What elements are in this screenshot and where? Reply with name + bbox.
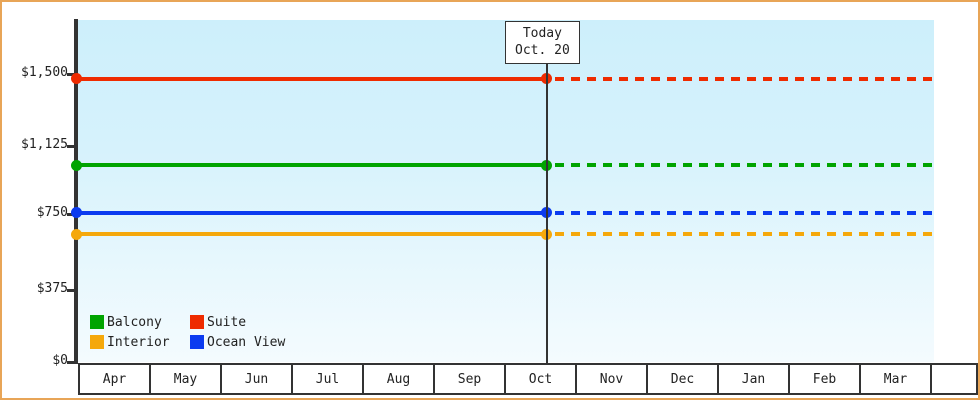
legend-item-balcony[interactable]: Balcony (90, 315, 190, 330)
y-tick-label-0: $0 (10, 353, 68, 368)
x-axis-month-jan[interactable]: Jan (717, 365, 788, 393)
x-axis-month-nov[interactable]: Nov (575, 365, 646, 393)
today-annotation-box: Today Oct. 20 (505, 21, 580, 64)
series-marker-ocean-view-start (71, 207, 82, 218)
x-axis-month-aug[interactable]: Aug (362, 365, 433, 393)
y-tick-label-1500: $1,500 (10, 65, 68, 80)
x-axis-month-jul[interactable]: Jul (291, 365, 362, 393)
legend-label-ocean-view: Ocean View (207, 335, 285, 350)
plot-area (78, 20, 934, 362)
legend-swatch-ocean-view (190, 335, 204, 349)
legend-item-interior[interactable]: Interior (90, 335, 190, 350)
x-axis-month-jun[interactable]: Jun (220, 365, 291, 393)
legend-label-interior: Interior (107, 335, 170, 350)
x-axis-month-mar[interactable]: Mar (859, 365, 930, 393)
y-tick-label-375: $375 (10, 281, 68, 296)
y-tick-0 (67, 361, 76, 364)
legend-label-suite: Suite (207, 315, 246, 330)
today-annotation-line2: Oct. 20 (515, 42, 570, 59)
legend-row-1: Balcony Suite (90, 312, 285, 332)
legend-label-balcony: Balcony (107, 315, 162, 330)
legend-swatch-interior (90, 335, 104, 349)
legend-item-ocean-view[interactable]: Ocean View (190, 335, 285, 350)
y-tick-1125 (67, 145, 76, 148)
series-line-balcony-actual (72, 163, 551, 167)
x-axis-month-sep[interactable]: Sep (433, 365, 504, 393)
y-tick-375 (67, 289, 76, 292)
x-axis-month-apr[interactable]: Apr (78, 365, 149, 393)
x-axis-month-may[interactable]: May (149, 365, 220, 393)
series-line-interior-forecast (555, 232, 933, 236)
legend-swatch-balcony (90, 315, 104, 329)
x-axis-month-feb[interactable]: Feb (788, 365, 859, 393)
x-axis-month-row: Apr May Jun Jul Aug Sep Oct Nov Dec Jan … (78, 363, 978, 395)
legend-swatch-suite (190, 315, 204, 329)
series-line-suite-forecast (555, 77, 933, 81)
series-line-interior-actual (72, 232, 551, 236)
legend-row-2: Interior Ocean View (90, 332, 285, 352)
x-axis-month-dec[interactable]: Dec (646, 365, 717, 393)
chart-legend: Balcony Suite Interior Ocean View (90, 312, 285, 352)
legend-item-suite[interactable]: Suite (190, 315, 246, 330)
y-axis-line (74, 19, 78, 364)
series-line-balcony-forecast (555, 163, 933, 167)
series-marker-balcony-start (71, 160, 82, 171)
today-annotation-line1: Today (515, 25, 570, 42)
series-marker-interior-start (71, 229, 82, 240)
series-line-suite-actual (72, 77, 551, 81)
y-tick-label-1125: $1,125 (10, 137, 68, 152)
y-tick-label-750: $750 (10, 205, 68, 220)
today-vertical-line (546, 59, 548, 363)
series-line-ocean-view-forecast (555, 211, 933, 215)
x-axis-month-overflow (930, 365, 976, 393)
series-line-ocean-view-actual (72, 211, 551, 215)
series-marker-suite-start (71, 73, 82, 84)
x-axis-month-oct[interactable]: Oct (504, 365, 575, 393)
chart-frame: $1,500 $1,125 $750 $375 $0 Today Oct. 20… (0, 0, 980, 400)
